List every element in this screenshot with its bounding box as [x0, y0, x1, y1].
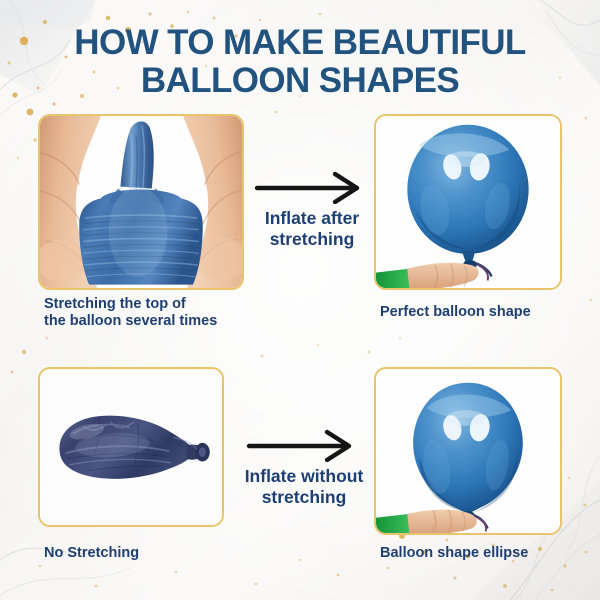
arrow-right-icon [245, 428, 363, 462]
caption-stretching-top: Stretching the top of the balloon severa… [44, 296, 284, 330]
caption-line: the balloon several times [44, 313, 284, 330]
page-title-line-2: BALLOON SHAPES [0, 62, 600, 100]
step-label: Inflate after stretching [238, 208, 386, 250]
deflated-balloon-photo [38, 367, 224, 527]
deflated-balloon-illustration [40, 369, 222, 525]
caption-perfect-balloon-shape: Perfect balloon shape [380, 304, 592, 321]
arrow-right-icon [253, 170, 371, 204]
round-balloon-illustration [376, 116, 560, 288]
ellipse-balloon-illustration [376, 369, 560, 533]
round-balloon-photo [374, 114, 562, 290]
step-label-line: stretching [238, 229, 386, 250]
page-title-line-1: HOW TO MAKE BEAUTIFUL [0, 24, 600, 62]
step-label-line: stretching [218, 487, 390, 508]
step-label: Inflate without stretching [218, 466, 390, 508]
step-label-line: Inflate after [238, 208, 386, 229]
page-title: HOW TO MAKE BEAUTIFUL BALLOON SHAPES [0, 24, 600, 100]
step-label-line: Inflate without [218, 466, 390, 487]
caption-no-stretching: No Stretching [44, 545, 244, 562]
caption-line: Balloon shape ellipse [380, 545, 592, 562]
hands-stretching-balloon-photo [38, 114, 244, 290]
caption-line: No Stretching [44, 545, 244, 562]
step-inflate-after-stretching: Inflate after stretching [238, 170, 386, 250]
hands-stretching-balloon-illustration [40, 116, 242, 288]
ellipse-balloon-photo [374, 367, 562, 535]
step-inflate-without-stretching: Inflate without stretching [218, 428, 390, 508]
caption-line: Stretching the top of [44, 296, 284, 313]
caption-line: Perfect balloon shape [380, 304, 592, 321]
caption-balloon-shape-ellipse: Balloon shape ellipse [380, 545, 592, 562]
